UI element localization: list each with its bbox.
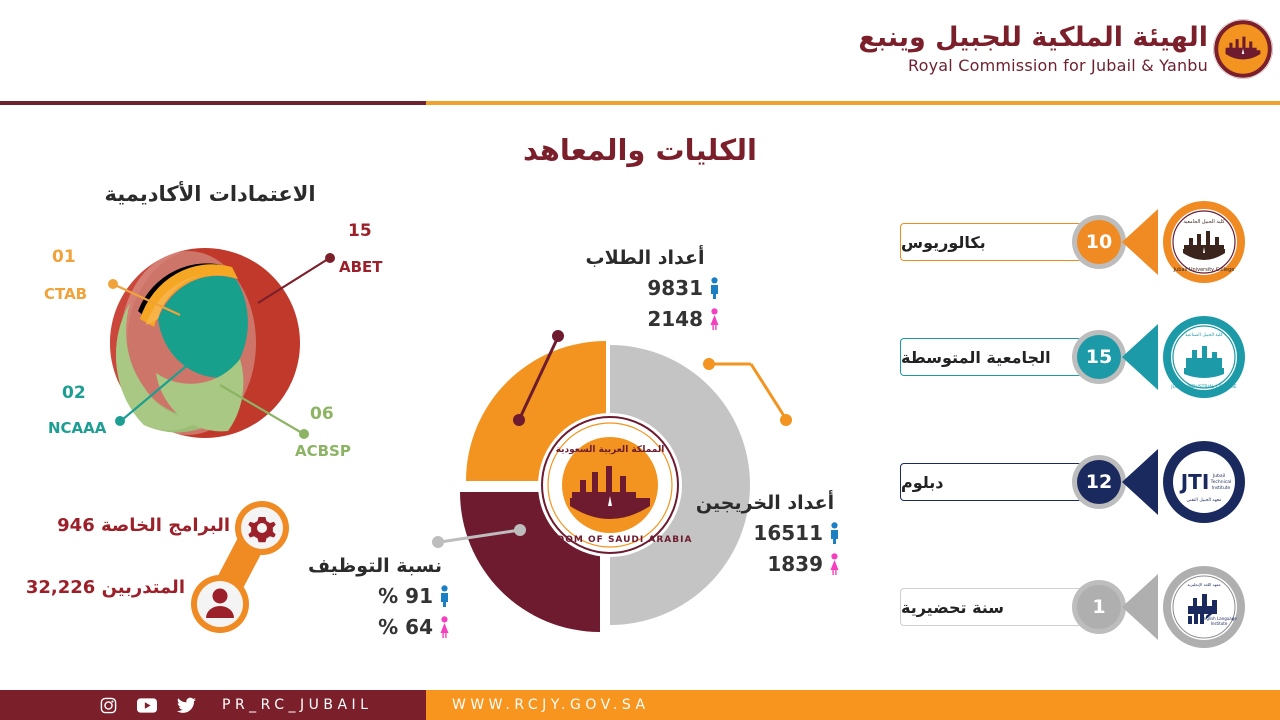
svg-text:JTI: JTI (1179, 470, 1210, 494)
accreditation-label-acbsp: ACBSP (295, 442, 351, 460)
svg-text:المملكة العربية السعودية: المملكة العربية السعودية (556, 445, 665, 455)
level-count-bachelor: 10 (1077, 220, 1121, 264)
graduates-stat-group: أعداد الخريجين 16511 1839 (690, 492, 840, 576)
accreditation-count-ncaaa: 02 (62, 383, 86, 403)
male-figure-icon (829, 522, 840, 544)
level-row-preparatory[interactable]: سنة تحضيرية 1 معهد اللغة الإنجليزية Engl… (900, 580, 1270, 634)
footer-handle: PR_RC_JUBAIL (222, 690, 372, 720)
social-links (100, 690, 196, 720)
female-figure-icon (829, 553, 840, 575)
svg-text:JUBAIL INDUSTRIAL COLLEGE: JUBAIL INDUSTRIAL COLLEGE (1170, 384, 1237, 390)
employment-male-row: % 91 (300, 584, 450, 608)
page-title: الكليات والمعاهد (0, 133, 1280, 167)
svg-text:Jubail: Jubail (1212, 473, 1225, 479)
accreditation-count-ctab: 01 (52, 247, 76, 267)
employment-female-row: % 64 (300, 615, 450, 639)
leader-line-graduates (751, 364, 786, 419)
jubail-university-college-logo: كلية الجبيل الجامعية Jubail University C… (1122, 201, 1262, 283)
female-figure-icon (709, 308, 720, 330)
level-label-intermediate[interactable]: الجامعية المتوسطة (900, 338, 1082, 376)
divider-maroon-segment (0, 101, 426, 105)
level-label-diploma[interactable]: دبلوم (900, 463, 1082, 501)
accreditation-label-abet: ABET (339, 258, 383, 276)
students-stat-group: أعداد الطلاب 9831 2148 (570, 247, 720, 331)
trainees-stat: المتدربين 32,226 (10, 577, 185, 598)
students-female-row: 2148 (570, 307, 720, 331)
level-count-diploma: 12 (1077, 460, 1121, 504)
level-badge-intermediate: 15 (1072, 330, 1126, 384)
students-male-row: 9831 (570, 276, 720, 300)
header-divider (0, 101, 1280, 105)
jubail-industrial-college-logo: كلية الجبيل الصناعية JUBAIL INDUSTRIAL C… (1122, 316, 1262, 398)
students-heading: أعداد الطلاب (570, 247, 720, 269)
english-language-institute-logo: معهد اللغة الإنجليزية English Language I… (1122, 566, 1262, 648)
main-pie-chart: المملكة العربية السعودية KINGDOM OF SAUD… (420, 320, 820, 650)
twitter-icon[interactable] (177, 697, 196, 714)
male-figure-icon (709, 277, 720, 299)
accreditation-count-abet: 15 (348, 221, 372, 241)
level-row-intermediate[interactable]: الجامعية المتوسطة 15 كلية الجبيل الصناعي… (900, 330, 1270, 384)
svg-text:KINGDOM OF SAUDI ARABIA: KINGDOM OF SAUDI ARABIA (528, 535, 693, 545)
instagram-icon[interactable] (100, 697, 117, 714)
level-badge-bachelor: 10 (1072, 215, 1126, 269)
svg-text:Technical: Technical (1210, 479, 1232, 485)
level-label-preparatory[interactable]: سنة تحضيرية (900, 588, 1082, 626)
graduates-male-value: 16511 (753, 521, 823, 545)
employment-female-value: % 64 (378, 615, 433, 639)
accreditation-label-ctab: CTAB (44, 285, 87, 303)
svg-text:معهد الجبيل التقني: معهد الجبيل التقني (1187, 498, 1222, 503)
graduates-female-value: 1839 (767, 552, 823, 576)
footer-website-url[interactable]: WWW.RCJY.GOV.SA (452, 690, 650, 720)
accreditation-count-acbsp: 06 (310, 404, 334, 424)
svg-text:كلية الجبيل الصناعية: كلية الجبيل الصناعية (1185, 332, 1223, 338)
employment-stat-group: نسبة التوظيف % 91 % 64 (300, 555, 450, 639)
level-row-diploma[interactable]: دبلوم 12 JTI Jubail Technical Institute … (900, 455, 1270, 509)
svg-text:Jubail University College: Jubail University College (1173, 267, 1235, 273)
female-figure-icon (439, 616, 450, 638)
male-figure-icon (439, 585, 450, 607)
brand-title-english: Royal Commission for Jubail & Yanbu (858, 56, 1208, 75)
level-count-intermediate: 15 (1077, 335, 1121, 379)
divider-orange-segment (426, 101, 1280, 105)
svg-text:كلية الجبيل الجامعية: كلية الجبيل الجامعية (1183, 219, 1225, 225)
employment-heading: نسبة التوظيف (300, 555, 450, 577)
level-row-bachelor[interactable]: بكالوريوس 10 كلية الجبيل الجامعية Jubail… (900, 215, 1270, 269)
students-female-value: 2148 (647, 307, 703, 331)
accreditations-heading: الاعتمادات الأكاديمية (30, 182, 390, 206)
page-header: الهيئة الملكية للجبيل وينبع Royal Commis… (0, 0, 1280, 100)
rc-seal-logo (1212, 18, 1274, 80)
accreditations-sphere-chart (30, 215, 390, 480)
level-label-bachelor[interactable]: بكالوريوس (900, 223, 1082, 261)
accreditation-label-ncaaa: NCAAA (48, 419, 106, 437)
brand-title-arabic: الهيئة الملكية للجبيل وينبع (858, 22, 1208, 53)
level-badge-diploma: 12 (1072, 455, 1126, 509)
level-badge-preparatory: 1 (1072, 580, 1126, 634)
graduates-female-row: 1839 (690, 552, 840, 576)
svg-text:Institute: Institute (1211, 621, 1228, 626)
svg-text:Institute: Institute (1212, 485, 1231, 491)
students-male-value: 9831 (647, 276, 703, 300)
youtube-icon[interactable] (137, 697, 157, 714)
employment-male-value: % 91 (378, 584, 433, 608)
graduates-heading: أعداد الخريجين (690, 492, 840, 514)
page-footer: PR_RC_JUBAIL WWW.RCJY.GOV.SA (0, 690, 1280, 720)
graduates-male-row: 16511 (690, 521, 840, 545)
special-programs-stat: البرامج الخاصة 946 (30, 515, 230, 536)
brand-block: الهيئة الملكية للجبيل وينبع Royal Commis… (858, 22, 1208, 75)
level-count-preparatory: 1 (1077, 585, 1121, 629)
jubail-technical-institute-logo: JTI Jubail Technical Institute معهد الجب… (1122, 441, 1262, 523)
